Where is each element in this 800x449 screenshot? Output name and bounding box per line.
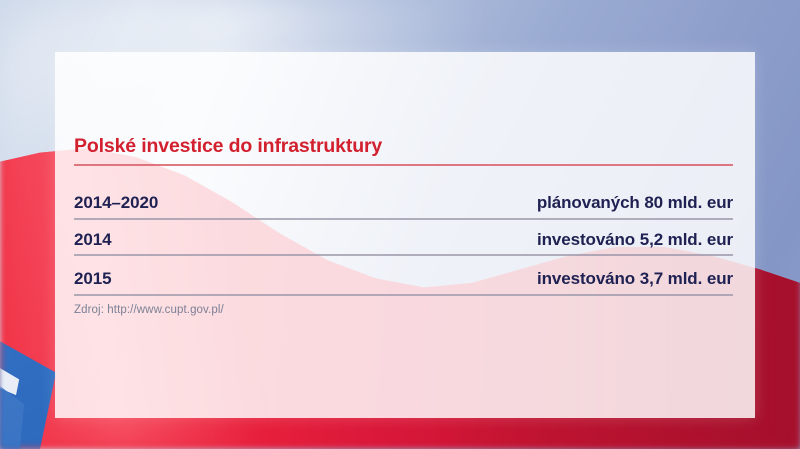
row-divider — [74, 218, 733, 220]
info-panel-content: Polské investice do infrastruktury 2014–… — [74, 52, 733, 418]
title-divider — [74, 164, 733, 166]
row-divider — [74, 294, 733, 296]
table-row: 2014–2020 plánovaných 80 mld. eur — [74, 188, 733, 218]
row-period-label: 2014–2020 — [74, 193, 158, 213]
row-amount-value: plánovaných 80 mld. eur — [537, 193, 733, 213]
row-period-label: 2015 — [74, 269, 111, 289]
screenshot-stage: Polské investice do infrastruktury 2014–… — [0, 0, 800, 449]
table-row: 2015 investováno 3,7 mld. eur — [74, 264, 733, 294]
info-panel: Polské investice do infrastruktury 2014–… — [55, 52, 755, 418]
source-note: Zdroj: http://www.cupt.gov.pl/ — [74, 304, 224, 316]
row-divider — [74, 254, 733, 256]
table-row: 2014 investováno 5,2 mld. eur — [74, 225, 733, 255]
row-amount-value: investováno 5,2 mld. eur — [537, 230, 733, 250]
page-title: Polské investice do infrastruktury — [74, 135, 382, 158]
row-period-label: 2014 — [74, 230, 111, 250]
row-amount-value: investováno 3,7 mld. eur — [537, 269, 733, 289]
